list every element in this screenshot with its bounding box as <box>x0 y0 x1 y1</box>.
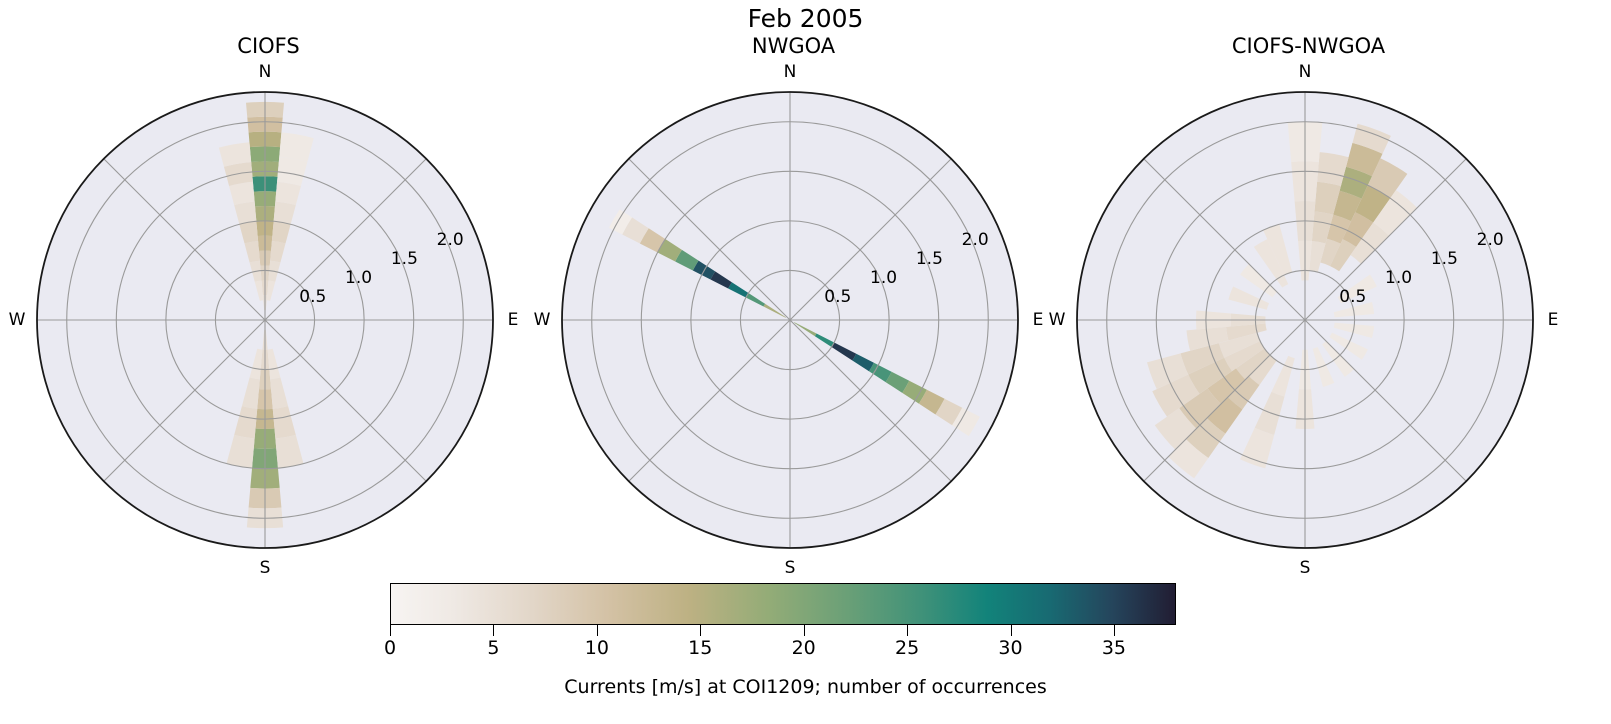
polar-plot-ciofs: NESW0.51.01.52.0 <box>0 0 537 590</box>
colorbar <box>390 583 1176 625</box>
radial-tick-label: 1.5 <box>916 249 943 269</box>
figure-canvas: Feb 2005 CIOFS NESW0.51.01.52.0 NWGOA NE… <box>0 0 1611 724</box>
polar-axes-0 <box>0 0 537 590</box>
polar-panel-nwgoa: NWGOA NESW0.51.01.52.0 <box>525 0 1062 590</box>
radial-tick-label: 1.0 <box>345 268 372 288</box>
colorbar-tick-label: 30 <box>998 637 1022 659</box>
colorbar-tick <box>597 625 598 636</box>
colorbar-tick-label: 20 <box>792 637 816 659</box>
cardinal-label-n: N <box>1299 62 1312 82</box>
colorbar-tick <box>1011 625 1012 636</box>
colorbar-tick <box>700 625 701 636</box>
colorbar-gradient <box>390 583 1176 625</box>
cardinal-label-s: S <box>785 558 796 578</box>
radial-tick-label: 2.0 <box>1477 230 1504 250</box>
polar-plot-ciofs-nwgoa: NESW0.51.01.52.0 <box>1040 0 1577 590</box>
colorbar-tick <box>493 625 494 636</box>
radial-tick-label: 0.5 <box>299 287 326 307</box>
cardinal-label-w: W <box>9 310 26 330</box>
cardinal-label-w: W <box>1049 310 1066 330</box>
colorbar-tick-label: 15 <box>688 637 712 659</box>
colorbar-tick <box>907 625 908 636</box>
polar-axes-1 <box>525 0 1062 590</box>
colorbar-tick <box>1114 625 1115 636</box>
polar-axes-2 <box>1040 0 1577 590</box>
cardinal-label-s: S <box>260 558 271 578</box>
radial-tick-label: 1.5 <box>1431 249 1458 269</box>
colorbar-tick <box>390 625 391 636</box>
cardinal-label-e: E <box>1548 310 1559 330</box>
radial-tick-label: 0.5 <box>1339 287 1366 307</box>
cardinal-label-n: N <box>259 62 272 82</box>
radial-tick-label: 2.0 <box>962 230 989 250</box>
radial-tick-label: 0.5 <box>824 287 851 307</box>
polar-panel-ciofs-nwgoa: CIOFS-NWGOA NESW0.51.01.52.0 <box>1040 0 1577 590</box>
colorbar-ticks: 05101520253035 <box>390 625 1176 655</box>
colorbar-tick <box>804 625 805 636</box>
radial-tick-label: 1.5 <box>391 249 418 269</box>
polar-plot-nwgoa: NESW0.51.01.52.0 <box>525 0 1062 590</box>
radial-tick-label: 1.0 <box>870 268 897 288</box>
cardinal-label-n: N <box>784 62 797 82</box>
cardinal-label-e: E <box>508 310 519 330</box>
colorbar-tick-label: 35 <box>1102 637 1126 659</box>
colorbar-tick-label: 10 <box>585 637 609 659</box>
colorbar-tick-label: 0 <box>384 637 396 659</box>
polar-panel-ciofs: CIOFS NESW0.51.01.52.0 <box>0 0 537 590</box>
colorbar-tick-label: 25 <box>895 637 919 659</box>
cardinal-label-s: S <box>1300 558 1311 578</box>
colorbar-tick-label: 5 <box>487 637 499 659</box>
radial-tick-label: 2.0 <box>437 230 464 250</box>
radial-tick-label: 1.0 <box>1385 268 1412 288</box>
colorbar-label: Currents [m/s] at COI1209; number of occ… <box>0 676 1611 698</box>
cardinal-label-w: W <box>534 310 551 330</box>
